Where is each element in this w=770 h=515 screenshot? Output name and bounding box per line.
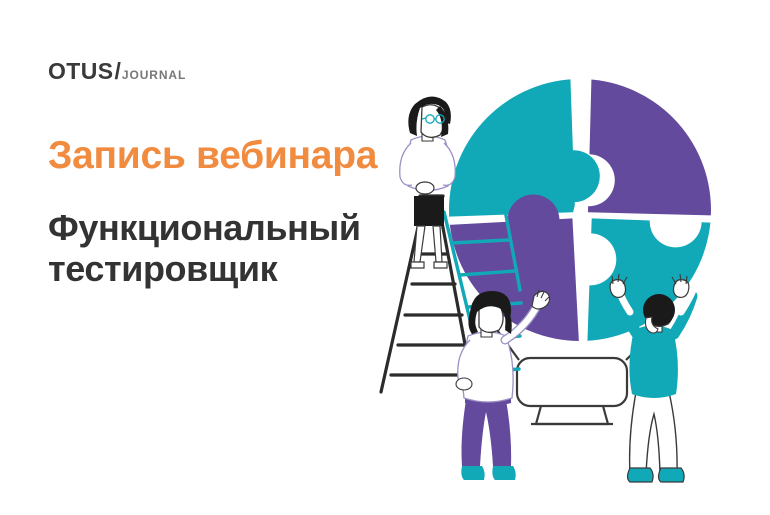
- page-title: Функциональный тестировщик: [48, 207, 448, 289]
- puzzle-piece-top-left: [442, 77, 601, 216]
- title-line-2: тестировщик: [48, 248, 448, 289]
- kicker-text: Запись вебинара: [48, 135, 448, 177]
- monitor-outline-icon: [497, 330, 651, 424]
- headline-block: Запись вебинара Функциональный тестировщ…: [48, 135, 448, 289]
- title-line-1: Функциональный: [48, 207, 361, 248]
- figure-person-lifting: [610, 274, 694, 482]
- webinar-cover-card: OTUS / JOURNAL Запись вебинара Функциона…: [0, 0, 770, 515]
- puzzle-piece-top-right: [588, 78, 719, 215]
